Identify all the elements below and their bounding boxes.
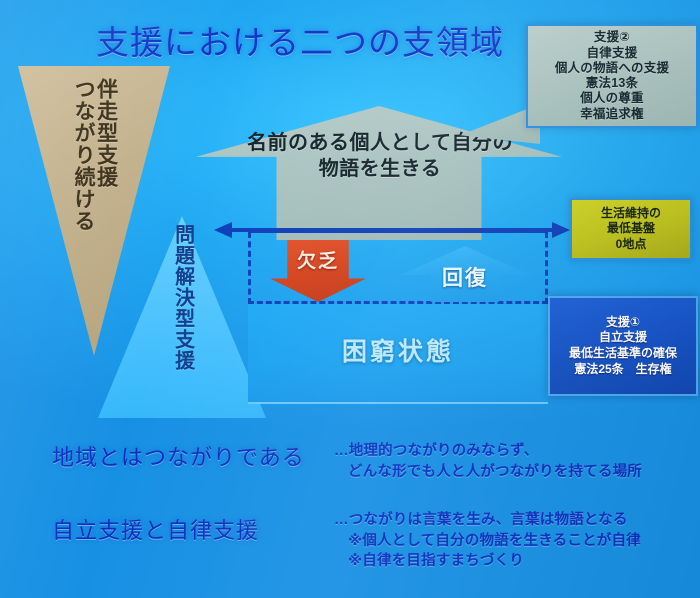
- support2-line-4: 憲法13条: [586, 76, 638, 91]
- support1-callout: 支援① 自立支援 最低生活基準の確保 憲法25条 生存権: [548, 296, 698, 396]
- problem-solving-support-label-group: 問題解決型支援: [98, 224, 266, 414]
- support1-line-4: 憲法25条 生存権: [574, 362, 671, 378]
- support2-line-6: 幸福追求権: [580, 107, 644, 122]
- support1-line-3: 最低生活基準の確保: [569, 346, 677, 362]
- bottom-note-2-detail-line-3: ※自律を目指すまちづくり: [334, 551, 641, 572]
- bottom-note-2-detail-line-2: ※個人として自分の物語を生きることが自律: [334, 531, 641, 552]
- deficiency-label: 欠乏: [270, 246, 366, 273]
- bottom-note-2-detail: …つながりは言葉を生み、言葉は物語となる ※個人として自分の物語を生きることが自…: [334, 510, 641, 572]
- bottom-note-1-detail: …地理的つながりのみならず、 どんな形でも人と人がつながりを持てる場所: [334, 441, 642, 482]
- accompaniment-support-line2: つながり続ける: [72, 78, 95, 232]
- support2-line-1: 支援②: [594, 30, 630, 45]
- recovery-label: 回復: [410, 262, 520, 292]
- poverty-state-label: 困窮状態: [248, 332, 548, 368]
- accompaniment-support-line1: 伴走型支援: [95, 78, 118, 188]
- baseline-line-2: 最低基盤: [607, 221, 655, 236]
- support1-line-1: 支援①: [606, 315, 640, 331]
- bottom-note-1-detail-line-2: どんな形でも人と人がつながりを持てる場所: [334, 462, 642, 483]
- problem-solving-support-label: 問題解決型支援: [171, 224, 192, 371]
- page-title: 支援における二つの支領域: [96, 16, 566, 64]
- bottom-note-2-heading: 自立支援と自律支援: [52, 513, 259, 545]
- support2-line-5: 個人の尊重: [580, 91, 644, 106]
- baseline-line-1: 生活維持の: [601, 206, 661, 221]
- slide-canvas: 支援における二つの支領域 伴走型支援つながり続ける 問題解決型支援 名前のある個…: [0, 0, 700, 598]
- bottom-note-2-detail-line-1: …つながりは言葉を生み、言葉は物語となる: [334, 512, 628, 528]
- living-own-story-label: 名前のある個人として自分の物語を生きる: [242, 130, 518, 182]
- bottom-note-1-detail-line-1: …地理的つながりのみならず、: [334, 443, 539, 459]
- bottom-note-1-heading: 地域とはつながりである: [52, 440, 305, 472]
- support2-callout: 支援② 自律支援 個人の物語への支援 憲法13条 個人の尊重 幸福追求権: [526, 24, 698, 128]
- support1-line-2: 自立支援: [599, 330, 647, 346]
- baseline-line-3: 0地点: [616, 237, 647, 252]
- baseline-callout: 生活維持の 最低基盤 0地点: [570, 198, 692, 260]
- support2-line-3: 個人の物語への支援: [555, 61, 669, 76]
- support2-line-2: 自律支援: [587, 46, 638, 61]
